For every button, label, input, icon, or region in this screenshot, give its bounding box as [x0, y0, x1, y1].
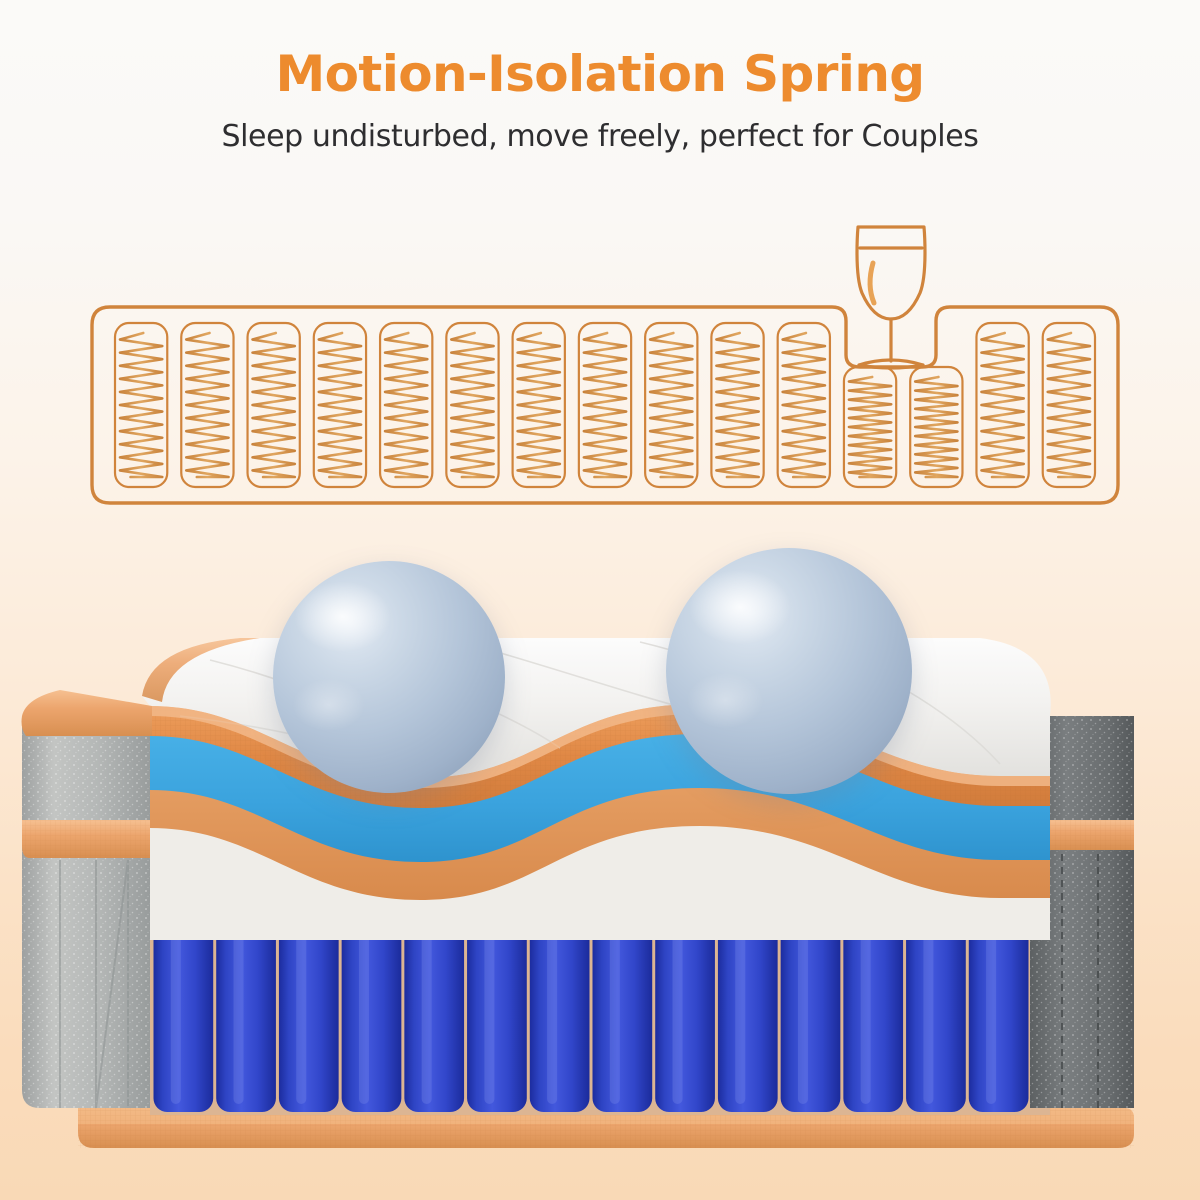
pocket-coil [969, 920, 1029, 1112]
demo-ball-right [666, 548, 912, 794]
ball-shading-right [666, 548, 912, 794]
page-subtitle: Sleep undisturbed, move freely, perfect … [0, 119, 1200, 154]
pocket-coil [404, 912, 464, 1112]
wine-glass-icon [857, 227, 925, 368]
pocket-coil-highlight [923, 922, 933, 1104]
spring-coil [518, 333, 560, 477]
spring-coil [849, 377, 891, 477]
spring-coil [716, 333, 758, 477]
pocket-spring-diagram [70, 215, 1140, 525]
heading-block: Motion-Isolation Spring Sleep undisturbe… [0, 0, 1200, 154]
spring-coil [1048, 333, 1090, 477]
spring-coil [186, 333, 228, 477]
pocket-coil-highlight [359, 921, 369, 1104]
spring-coil [650, 333, 692, 477]
spring-coil [783, 333, 825, 477]
ball-shading-left [273, 561, 505, 793]
spring-coil [584, 333, 626, 477]
spring-coil [915, 377, 957, 477]
spring-coil [319, 333, 361, 477]
spring-coil [385, 333, 427, 477]
pocket-coil-highlight [422, 918, 432, 1104]
spring-coil [981, 333, 1023, 477]
side-panel-left [22, 716, 152, 1108]
spring-coil [253, 333, 295, 477]
top-piping-left [22, 690, 153, 736]
spring-coil [451, 333, 493, 477]
pocket-coil [906, 916, 966, 1112]
page-title: Motion-Isolation Spring [0, 48, 1200, 101]
spring-coil [120, 333, 162, 477]
pocket-coil-highlight [986, 926, 996, 1104]
pocket-coil [342, 915, 402, 1112]
product-feature-banner: Motion-Isolation Spring Sleep undisturbe… [0, 0, 1200, 1200]
mattress-illustration [0, 520, 1200, 1200]
demo-ball-left [273, 561, 505, 793]
spring-group [115, 323, 1095, 487]
